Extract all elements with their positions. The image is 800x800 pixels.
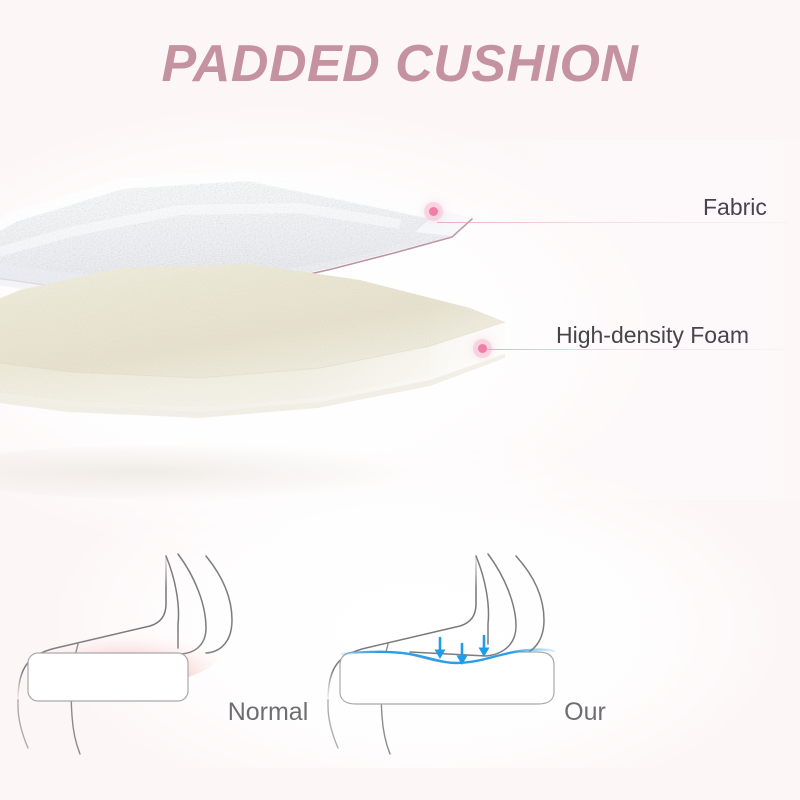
callout-line-foam [484,349,784,350]
callout-line-fabric [437,222,789,223]
callout-label-fabric: Fabric [703,194,767,220]
comparison-caption-our: Our [435,697,735,727]
page-title: PADDED CUSHION [0,34,800,94]
product-illustration [0,140,800,500]
comparison-caption-normal: Normal [118,697,418,727]
comparison-section [0,520,800,800]
callout-dot-foam [478,344,487,353]
callout-label-high-density-foam: High-density Foam [556,322,749,348]
callout-dot-fabric [429,207,438,216]
infographic-canvas: PADDED CUSHION [0,0,800,800]
